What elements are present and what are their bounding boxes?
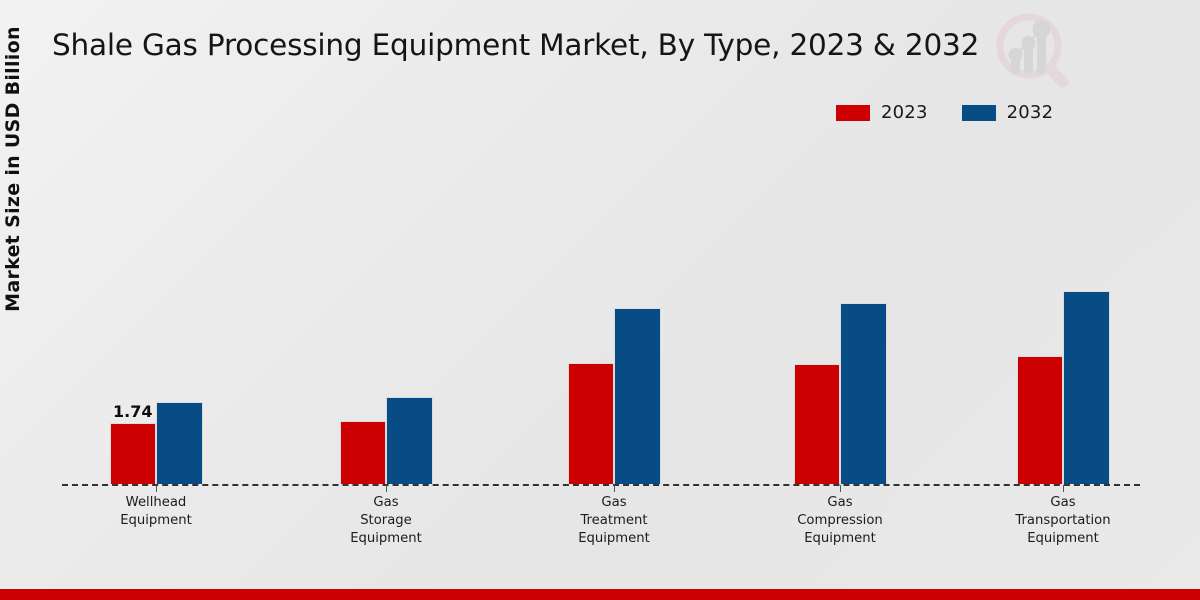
x-label-line: Gas (291, 494, 481, 512)
x-label-gas-compression-equipment: Gas Compression Equipment (745, 494, 935, 548)
x-tick-wellhead-equipment (156, 485, 157, 492)
bar-2023-gas-transportation-equipment[interactable] (1017, 356, 1063, 484)
bar-2032-gas-storage-equipment[interactable] (386, 397, 433, 484)
x-label-line: Compression (745, 512, 935, 530)
bar-2032-gas-transportation-equipment[interactable] (1063, 291, 1110, 484)
x-label-line: Equipment (745, 530, 935, 548)
bar-2023-gas-compression-equipment[interactable] (794, 364, 840, 484)
plot-area: 1.74 Wellhead Equipment Gas Storage Equi… (0, 0, 1200, 600)
bar-2032-gas-treatment-equipment[interactable] (614, 308, 661, 484)
x-tick-gas-storage-equipment (386, 485, 387, 492)
x-label-line: Gas (519, 494, 709, 512)
x-tick-gas-transportation-equipment (1063, 485, 1064, 492)
x-label-line: Equipment (968, 530, 1158, 548)
x-label-gas-storage-equipment: Gas Storage Equipment (291, 494, 481, 548)
x-tick-gas-treatment-equipment (614, 485, 615, 492)
x-label-wellhead-equipment: Wellhead Equipment (61, 494, 251, 530)
value-label-wellhead-2023: 1.74 (113, 402, 152, 421)
chart-figure: Shale Gas Processing Equipment Market, B… (0, 0, 1200, 600)
x-label-line: Equipment (291, 530, 481, 548)
x-tick-gas-compression-equipment (840, 485, 841, 492)
x-label-line: Treatment (519, 512, 709, 530)
bar-2023-gas-storage-equipment[interactable] (340, 421, 386, 484)
x-label-line: Storage (291, 512, 481, 530)
x-label-line: Wellhead (61, 494, 251, 512)
x-label-line: Equipment (61, 512, 251, 530)
x-axis-baseline (62, 484, 1140, 486)
x-label-gas-treatment-equipment: Gas Treatment Equipment (519, 494, 709, 548)
footer-accent-bar (0, 589, 1200, 600)
x-label-line: Equipment (519, 530, 709, 548)
bar-2032-gas-compression-equipment[interactable] (840, 303, 887, 484)
bar-2023-wellhead-equipment[interactable] (110, 423, 156, 484)
x-label-gas-transportation-equipment: Gas Transportation Equipment (968, 494, 1158, 548)
x-label-line: Gas (968, 494, 1158, 512)
bar-2023-gas-treatment-equipment[interactable] (568, 363, 614, 484)
x-label-line: Transportation (968, 512, 1158, 530)
x-label-line: Gas (745, 494, 935, 512)
bar-2032-wellhead-equipment[interactable] (156, 402, 203, 484)
